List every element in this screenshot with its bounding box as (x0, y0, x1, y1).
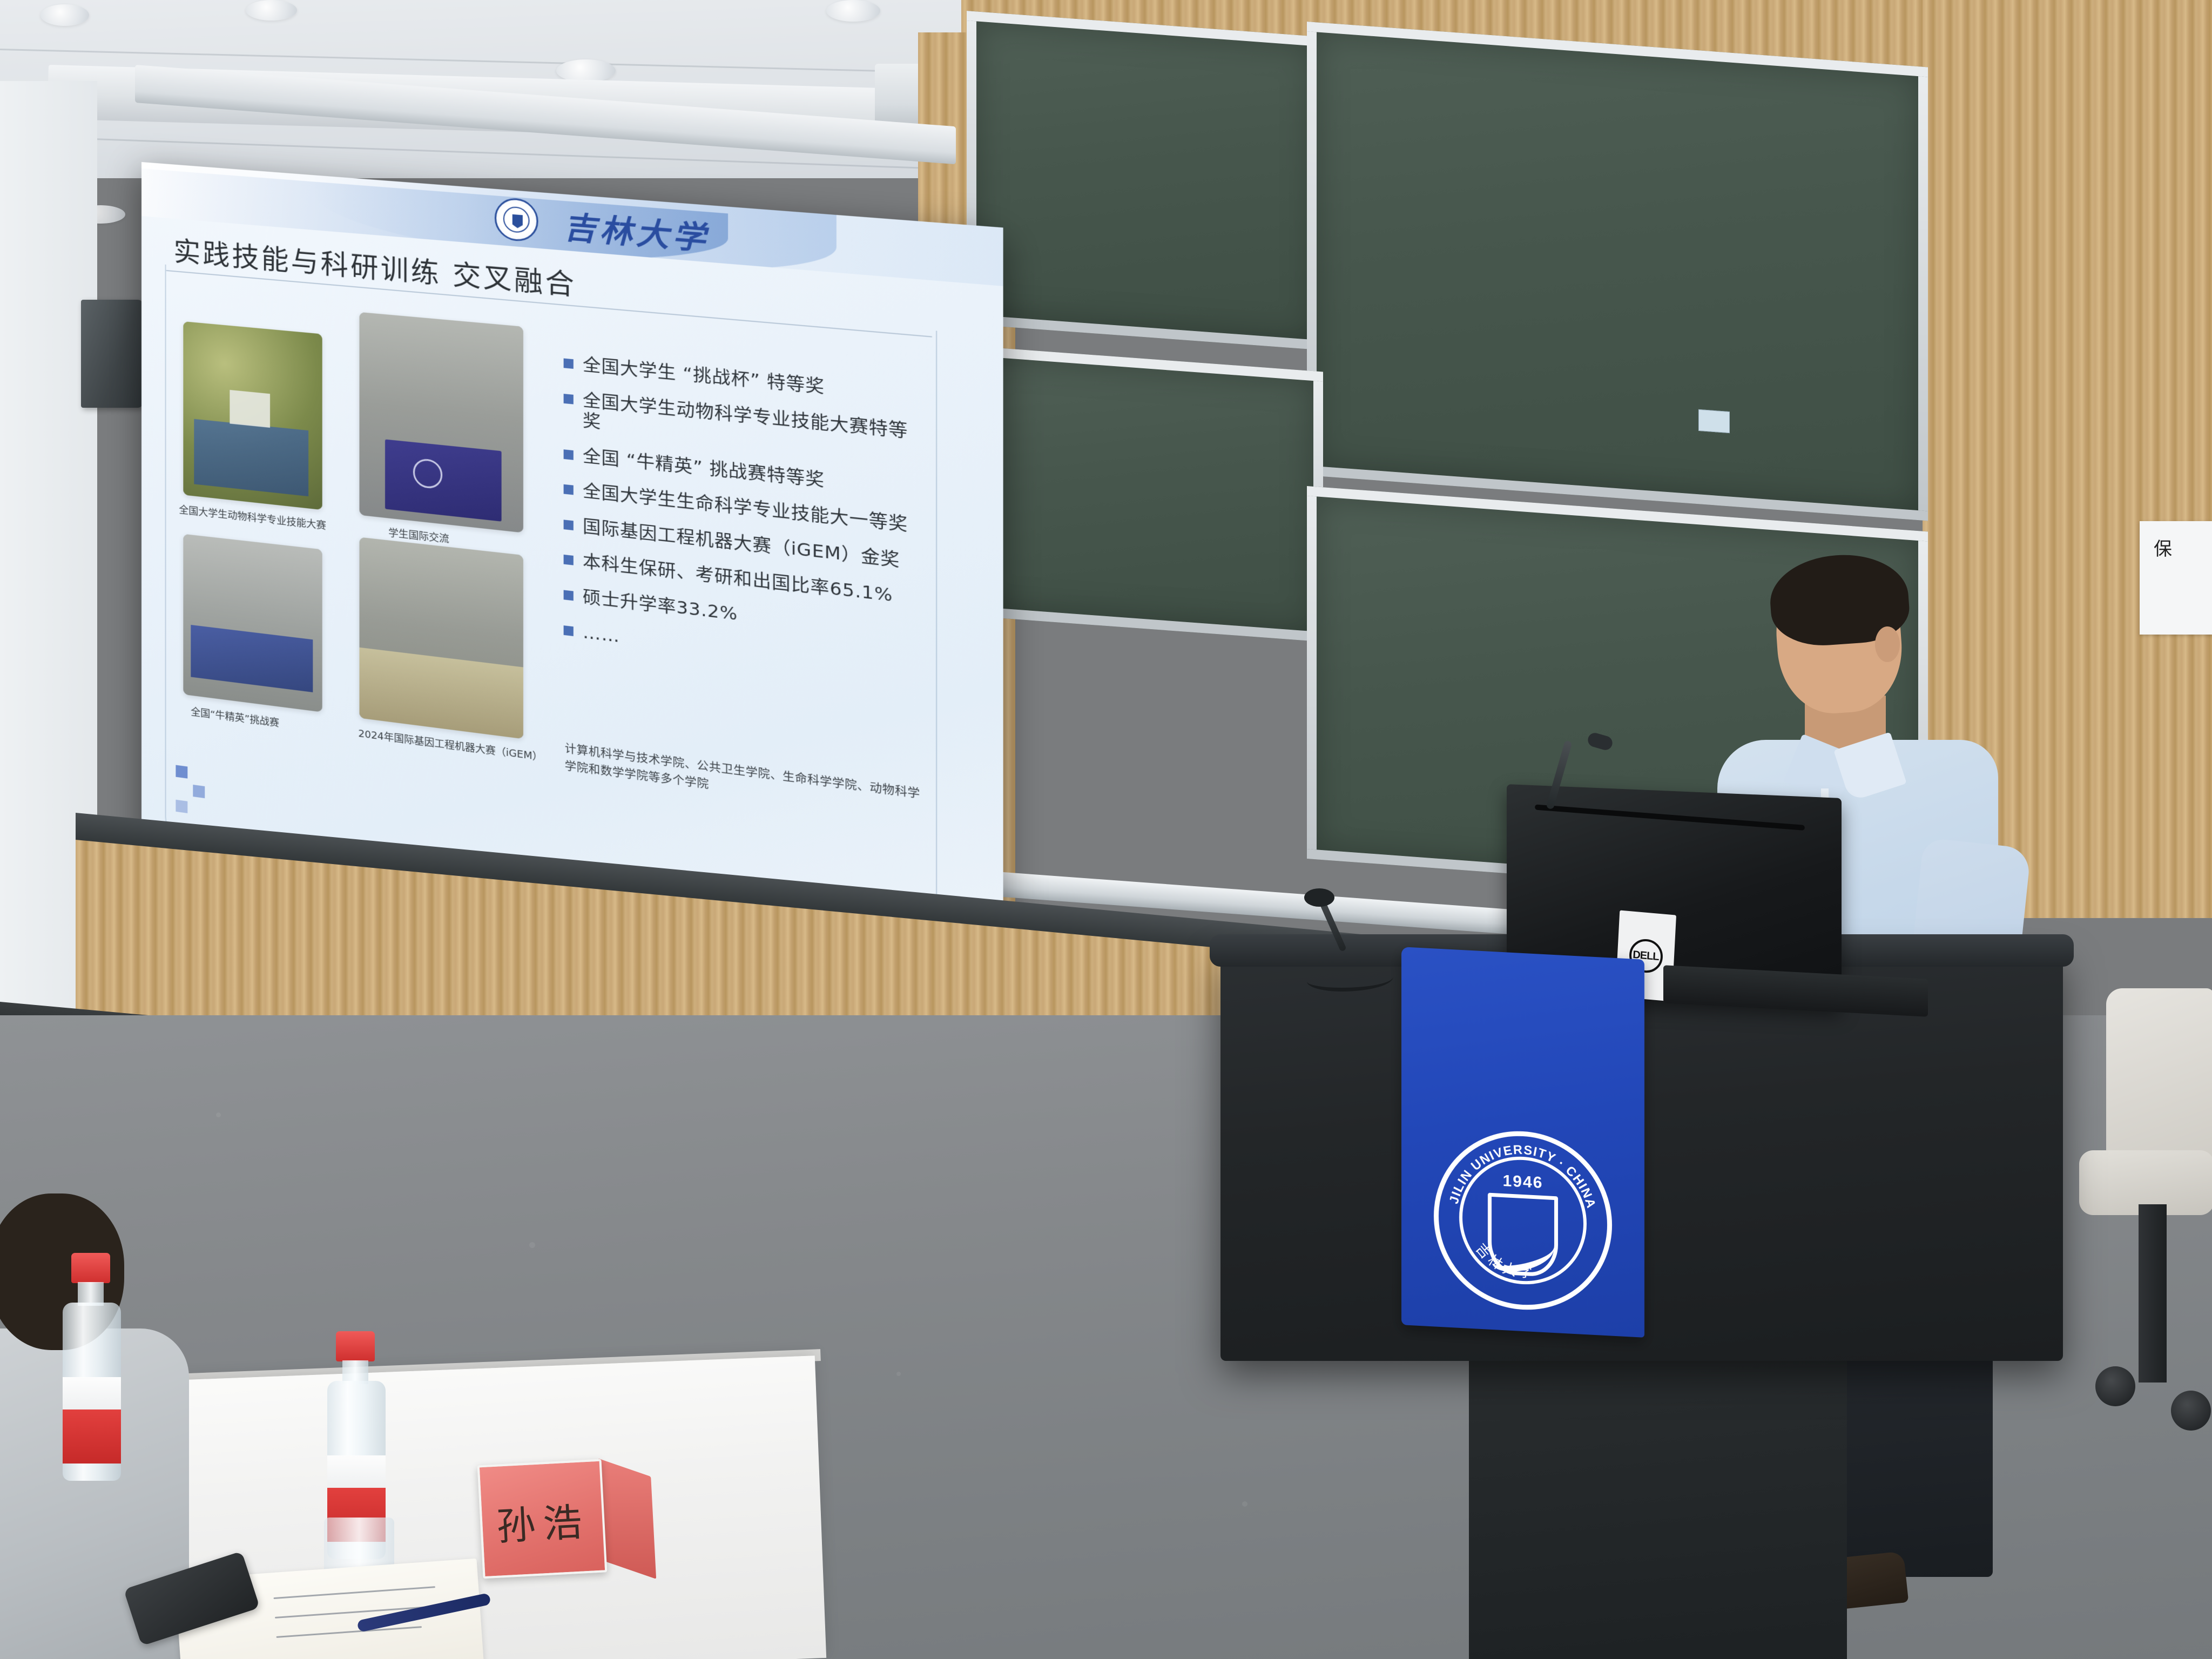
slide-photo (183, 534, 322, 712)
podium-branding-plate: 1946 JILIN UNIVERSITY · CHINA 吉林大学 (1401, 947, 1644, 1338)
svg-text:JILIN UNIVERSITY · CHINA: JILIN UNIVERSITY · CHINA (1447, 1139, 1599, 1212)
bottle-cap (336, 1331, 375, 1361)
chair-wheel (2095, 1366, 2135, 1406)
monitor-vent (1535, 804, 1805, 830)
chalkboard-panel (967, 346, 1323, 642)
name-card: 孙浩 (477, 1456, 657, 1600)
bullet-square-icon (564, 625, 574, 636)
bottle-label-lower (63, 1410, 121, 1464)
ceiling-downlight (826, 0, 880, 22)
name-card-back-panel (598, 1458, 656, 1579)
wall-speaker (81, 300, 143, 408)
name-card-text: 孙浩 (495, 1490, 591, 1552)
slide-photo (359, 537, 523, 739)
ceiling-downlight (246, 0, 297, 21)
ceiling-downlight (41, 4, 89, 26)
chair-post (2139, 1204, 2167, 1382)
wall-notice: 保 (2140, 521, 2212, 635)
bullet-square-icon (564, 484, 574, 495)
jilin-university-logo-icon: 1946 JILIN UNIVERSITY · CHINA 吉林大学 (1434, 1127, 1612, 1314)
name-card-face: 孙浩 (477, 1459, 608, 1579)
chair-backrest (2106, 988, 2212, 1166)
lecture-hall-scene: 保 吉林大学 实践技能与科研训练 交叉融合 全国大学生动物科学专业技能大赛 (0, 0, 2212, 1659)
wall-notice-text: 保 (2154, 539, 2172, 559)
bullet-square-icon (564, 359, 574, 369)
decorative-square (176, 765, 187, 779)
bottle-label-upper (63, 1377, 121, 1411)
bullet-text: 硕士升学率33.2% (583, 586, 738, 625)
microphone-head-icon (1304, 888, 1334, 907)
bullet-square-icon (564, 590, 574, 601)
podium-column (1469, 1323, 1847, 1659)
office-chair[interactable] (2074, 988, 2212, 1528)
slide-photo (183, 321, 322, 510)
presenter-ear (1875, 626, 1900, 662)
bullet-text: 全国 “牛精英” 挑战赛特等奖 (583, 446, 825, 491)
bottle-label-upper (327, 1455, 386, 1489)
slide-bullet-list: 全国大学生 “挑战杯” 特等奖 全国大学生动物科学专业技能大赛特等奖 全国 “牛… (564, 353, 922, 698)
ceiling-downlight (556, 59, 616, 82)
bullet-text: …… (583, 622, 620, 646)
bullet-square-icon (564, 394, 574, 404)
chalkboard-panel (1307, 22, 1928, 521)
svg-text:吉林大学: 吉林大学 (1472, 1240, 1536, 1282)
bullet-square-icon (564, 555, 574, 565)
board-notice-card (1698, 409, 1730, 433)
bottle-cap (71, 1253, 110, 1283)
bullet-square-icon (564, 520, 574, 530)
slide-photo (359, 312, 523, 533)
decorative-square (176, 800, 187, 813)
chalkboard-panel (967, 11, 1323, 350)
bullet-square-icon (564, 449, 574, 460)
chair-wheel (2171, 1391, 2211, 1431)
decorative-square (193, 785, 205, 798)
logo-ring-text: JILIN UNIVERSITY · CHINA 吉林大学 (1439, 1132, 1607, 1309)
